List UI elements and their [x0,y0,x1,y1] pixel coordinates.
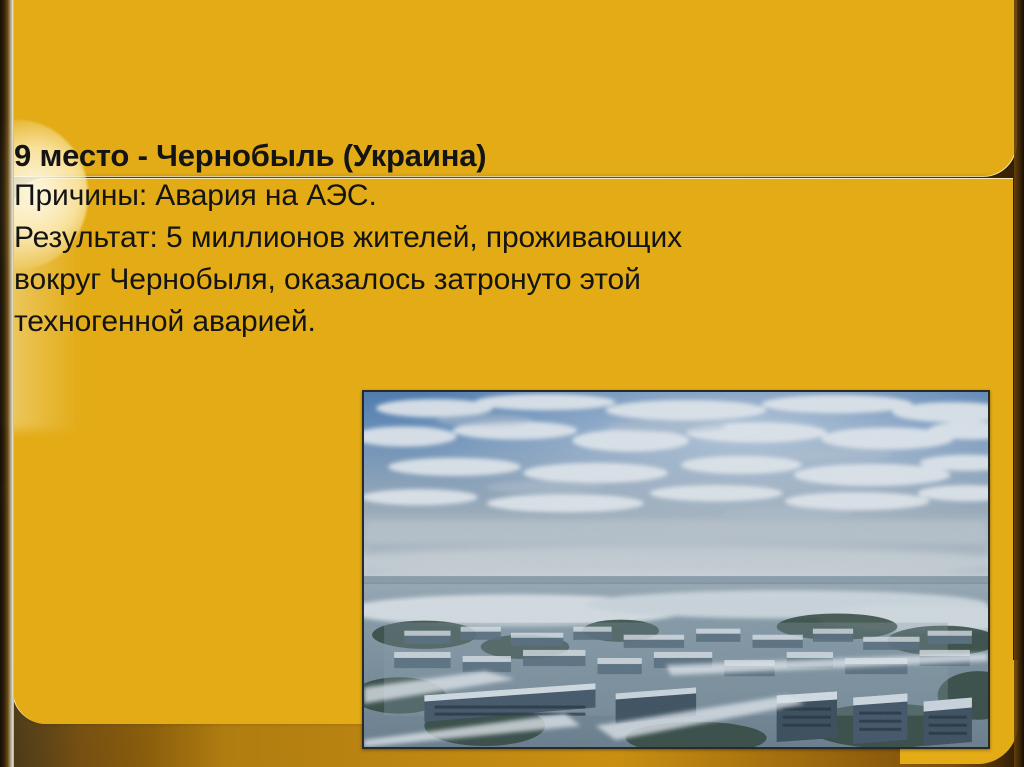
slide-body-line-4: техногенной аварией. [14,301,944,343]
slide-canvas: 9 место - Чернобыль (Украина) Причины: А… [0,0,1024,767]
right-edge-strip [1014,0,1024,767]
slide-body-line-2: Результат: 5 миллионов жителей, проживаю… [14,217,944,259]
left-edge-strip [0,0,14,767]
slide-body-line-3: вокруг Чернобыля, оказалось затронуто эт… [14,259,944,301]
chernobyl-photo-artwork [364,392,988,747]
slide-body-line-1: Причины: Авария на АЭС. [14,175,944,217]
slide-title: 9 место - Чернобыль (Украина) [14,137,944,175]
chernobyl-photo [362,390,990,749]
slide-text-block: 9 место - Чернобыль (Украина) Причины: А… [14,137,944,343]
